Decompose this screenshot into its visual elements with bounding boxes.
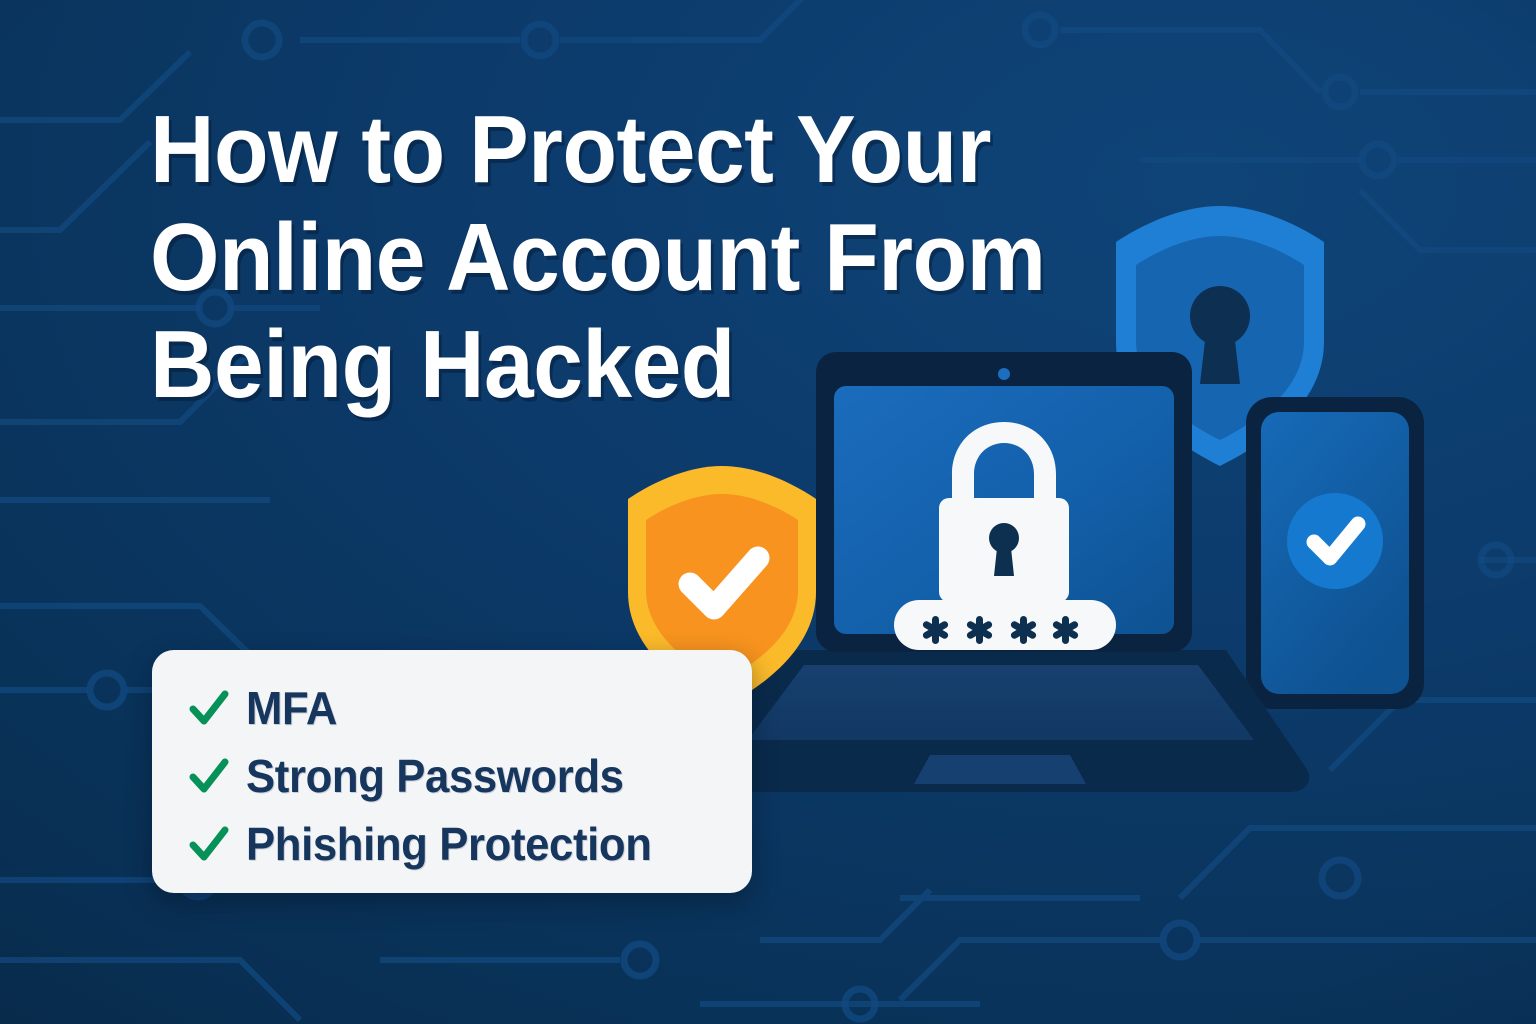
checklist-item-label: MFA bbox=[246, 681, 337, 735]
list-item[interactable]: Phishing Protection bbox=[186, 812, 752, 876]
check-circle-icon bbox=[1287, 493, 1383, 589]
list-item[interactable]: Strong Passwords bbox=[186, 744, 752, 808]
check-icon bbox=[186, 753, 232, 799]
smartphone-device bbox=[1246, 397, 1424, 709]
check-icon bbox=[186, 685, 232, 731]
check-icon bbox=[186, 821, 232, 867]
infographic-canvas: How to Protect Your Online Account From … bbox=[0, 0, 1536, 1024]
checklist-card: MFA Strong Passwords Phishing Protection bbox=[152, 650, 752, 893]
list-item[interactable]: MFA bbox=[186, 676, 752, 740]
checklist-item-label: Phishing Protection bbox=[246, 817, 652, 871]
checklist-item-label: Strong Passwords bbox=[246, 749, 624, 803]
password-field[interactable] bbox=[894, 600, 1116, 650]
